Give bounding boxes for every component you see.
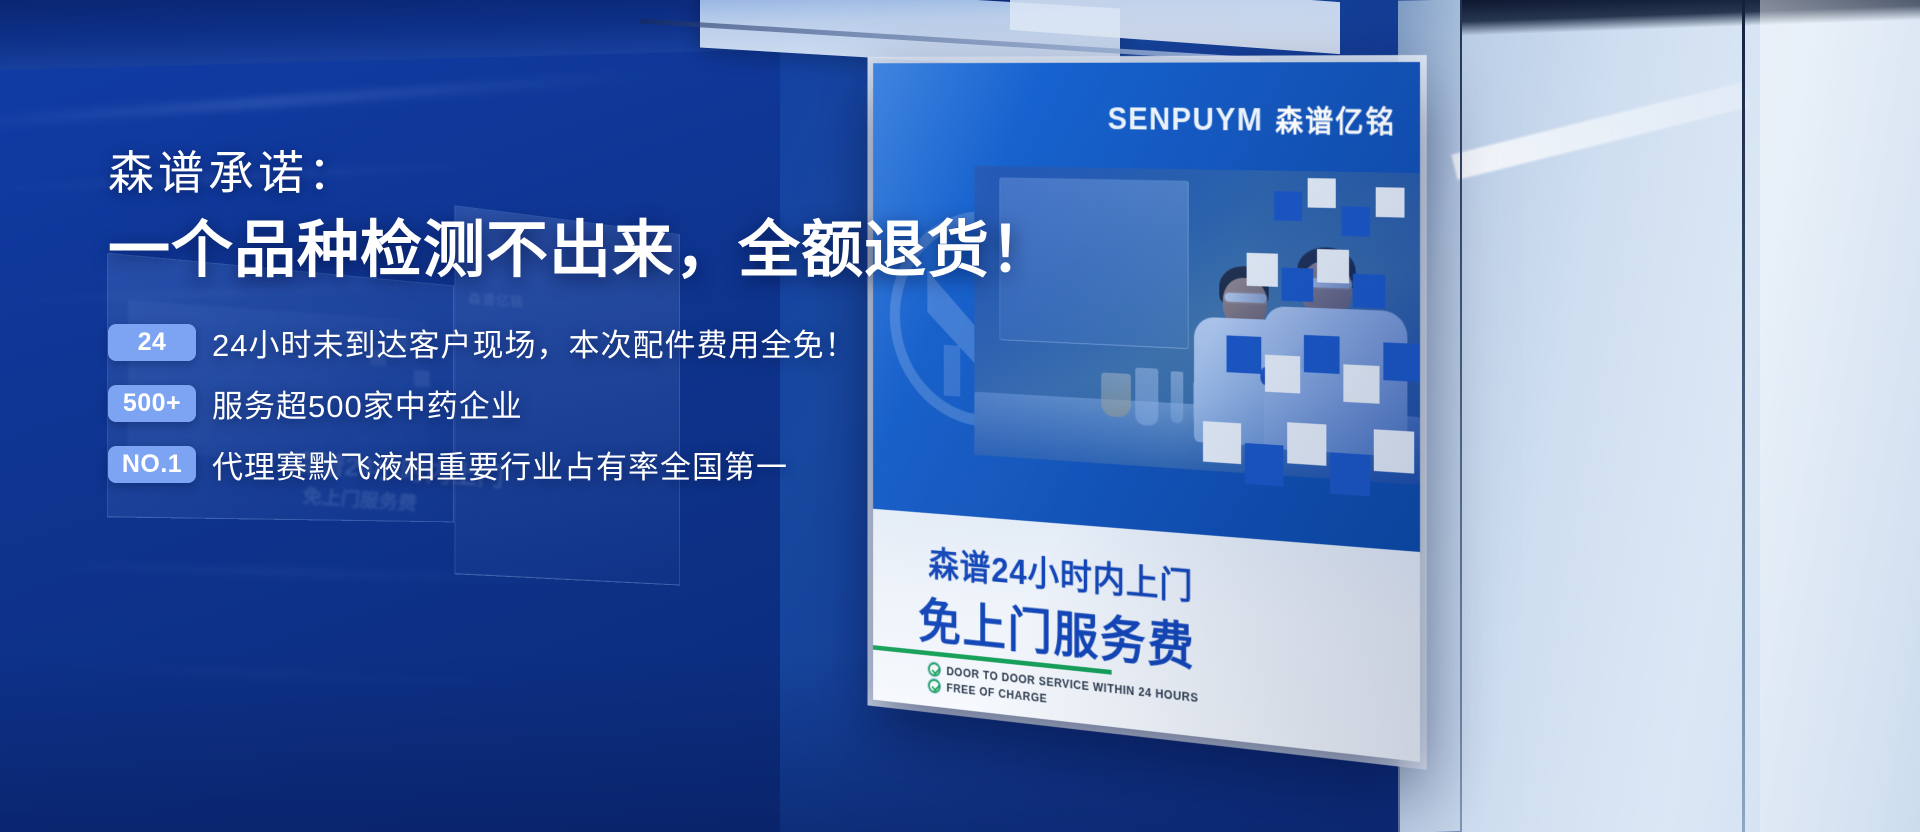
promo-eyebrow: 森谱承诺： bbox=[108, 148, 1168, 199]
bullet-badge: 24 bbox=[108, 324, 196, 361]
deco-square bbox=[1265, 355, 1300, 394]
deco-square bbox=[1353, 274, 1385, 309]
bullet-text: 代理赛默飞液相重要行业占有率全国第一 bbox=[212, 442, 788, 487]
promo-bullet-list: 24 24小时未到达客户现场，本次配件费用全免！ 500+ 服务超500家中药企… bbox=[108, 320, 1168, 487]
promo-bullet-item: 500+ 服务超500家中药企业 bbox=[108, 381, 1168, 426]
promo-copy-block: 森谱承诺： 一个品种检测不出来，全额退货！ 24 24小时未到达客户现场，本次配… bbox=[108, 148, 1168, 487]
deco-square bbox=[1343, 364, 1379, 403]
promo-bullet-item: NO.1 代理赛默飞液相重要行业占有率全国第一 bbox=[108, 442, 1168, 487]
ceiling-beam-reflection bbox=[1451, 82, 1748, 180]
deco-square bbox=[1247, 253, 1278, 287]
deco-square bbox=[1374, 429, 1414, 473]
wall-seam bbox=[1460, 0, 1462, 832]
corridor-right-wall bbox=[1460, 0, 1920, 832]
bullet-text: 24小时未到达客户现场，本次配件费用全免！ bbox=[212, 320, 856, 365]
deco-square bbox=[1383, 342, 1420, 382]
deco-square bbox=[1341, 206, 1369, 236]
deco-square bbox=[1304, 335, 1340, 374]
brand-name-en: SENPUYM bbox=[1108, 101, 1264, 139]
deco-square bbox=[1274, 191, 1302, 221]
deco-square bbox=[1245, 443, 1284, 486]
promo-bullet-item: 24 24小时未到达客户现场，本次配件费用全免！ bbox=[108, 320, 1168, 365]
check-circle-icon bbox=[928, 662, 940, 677]
deco-square bbox=[1317, 249, 1349, 284]
brand-name-cn: 森谱亿铭 bbox=[1275, 97, 1396, 141]
wall-glare bbox=[1760, 0, 1920, 832]
bullet-badge: 500+ bbox=[108, 385, 196, 422]
deco-square bbox=[1227, 335, 1262, 374]
deco-square bbox=[1376, 187, 1405, 217]
bullet-badge: NO.1 bbox=[108, 446, 196, 483]
deco-square bbox=[1203, 421, 1241, 464]
deco-square bbox=[1282, 267, 1314, 301]
poster-canvas: 森谱亿铭 森谱24小时内上门 免上门服务费 bbox=[0, 0, 1920, 832]
bullet-text: 服务超500家中药企业 bbox=[212, 381, 523, 426]
check-circle-icon bbox=[928, 679, 940, 694]
promo-headline: 一个品种检测不出来，全额退货！ bbox=[108, 215, 1168, 286]
deco-square bbox=[1308, 178, 1336, 208]
deco-square bbox=[1330, 452, 1370, 496]
wall-seam bbox=[1742, 0, 1745, 832]
deco-square bbox=[1287, 422, 1326, 466]
billboard-brand-logo: SENPUYM 森谱亿铭 bbox=[1108, 96, 1396, 141]
test-tube bbox=[1193, 382, 1206, 425]
test-tube bbox=[1171, 372, 1184, 425]
